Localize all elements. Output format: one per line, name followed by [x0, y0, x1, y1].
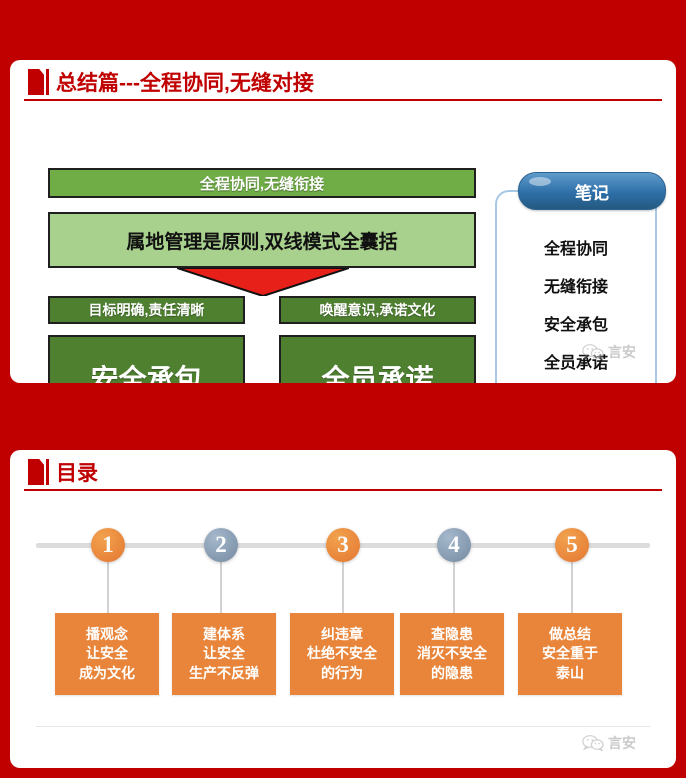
- timeline-item-1-line-3: 成为文化: [79, 664, 135, 683]
- timeline-node-4[interactable]: 4: [437, 528, 471, 562]
- summary-slide-card: 总结篇---全程协同,无缝对接 全程协同,无缝衔接 属地管理是原则,双线模式全囊…: [10, 60, 676, 383]
- timeline-item-1[interactable]: 播观念让安全成为文化: [55, 613, 159, 695]
- slide2-title: 目录: [56, 457, 98, 487]
- wechat-icon: [582, 735, 604, 751]
- timeline-node-3[interactable]: 3: [326, 528, 360, 562]
- headline-banner: 全程协同,无缝衔接: [48, 168, 476, 198]
- principle-banner: 属地管理是原则,双线模式全囊括: [48, 212, 476, 268]
- slide1-title: 总结篇---全程协同,无缝对接: [56, 67, 314, 97]
- bookmark-icon: [28, 459, 50, 485]
- timeline-item-3-line-1: 纠违章: [321, 625, 363, 644]
- timeline-item-2-line-3: 生产不反弹: [189, 664, 259, 683]
- watermark-text-slide1: 言安: [608, 342, 636, 362]
- timeline-item-5[interactable]: 做总结安全重于泰山: [518, 613, 622, 695]
- timeline-node-1[interactable]: 1: [91, 528, 125, 562]
- timeline-item-1-line-2: 让安全: [86, 644, 128, 663]
- timeline-bottom-divider: [36, 726, 650, 727]
- tag-box-2: 唤醒意识,承诺文化: [279, 296, 476, 324]
- header-divider: [24, 489, 662, 491]
- bookmark-icon: [28, 69, 50, 95]
- timeline-item-2-line-1: 建体系: [203, 625, 245, 644]
- note-item-1: 全程协同: [495, 235, 657, 259]
- keyword-box-2: 全员承诺: [279, 335, 476, 383]
- timeline-item-3-line-3: 的行为: [321, 664, 363, 683]
- slide1-header: 总结篇---全程协同,无缝对接: [10, 60, 676, 102]
- timeline-item-4-line-1: 查隐患: [431, 625, 473, 644]
- timeline-connector-1: [107, 562, 109, 613]
- tag-box-1: 目标明确,责任清晰: [48, 296, 245, 324]
- notes-panel-caption: 笔记: [518, 172, 666, 210]
- watermark-slide1: 言安: [582, 342, 636, 362]
- timeline-item-5-line-2: 安全重于: [542, 644, 598, 663]
- header-divider: [24, 99, 662, 101]
- timeline-item-5-line-1: 做总结: [549, 625, 591, 644]
- slide2-header: 目录: [10, 450, 676, 492]
- down-arrow-icon: [177, 268, 349, 296]
- timeline-connector-5: [571, 562, 573, 613]
- note-item-2: 无缝衔接: [495, 273, 657, 297]
- timeline-connector-2: [220, 562, 222, 613]
- timeline-connector-3: [342, 562, 344, 613]
- timeline-item-5-line-3: 泰山: [556, 664, 584, 683]
- timeline-item-3-line-2: 杜绝不安全: [307, 644, 377, 663]
- timeline-node-2[interactable]: 2: [204, 528, 238, 562]
- timeline-item-2-line-2: 让安全: [203, 644, 245, 663]
- watermark-text-slide2: 言安: [608, 733, 636, 753]
- timeline-connector-4: [453, 562, 455, 613]
- wechat-icon: [582, 344, 604, 360]
- timeline-item-1-line-1: 播观念: [86, 625, 128, 644]
- timeline-node-5[interactable]: 5: [555, 528, 589, 562]
- timeline-item-4-line-3: 的隐患: [431, 664, 473, 683]
- timeline-item-4[interactable]: 查隐患消灭不安全的隐患: [400, 613, 504, 695]
- watermark-slide2: 言安: [582, 733, 636, 753]
- timeline-item-3[interactable]: 纠违章杜绝不安全的行为: [290, 613, 394, 695]
- keyword-box-1: 安全承包: [48, 335, 245, 383]
- timeline-item-4-line-2: 消灭不安全: [417, 644, 487, 663]
- timeline-item-2[interactable]: 建体系让安全生产不反弹: [172, 613, 276, 695]
- note-item-3: 安全承包: [495, 311, 657, 335]
